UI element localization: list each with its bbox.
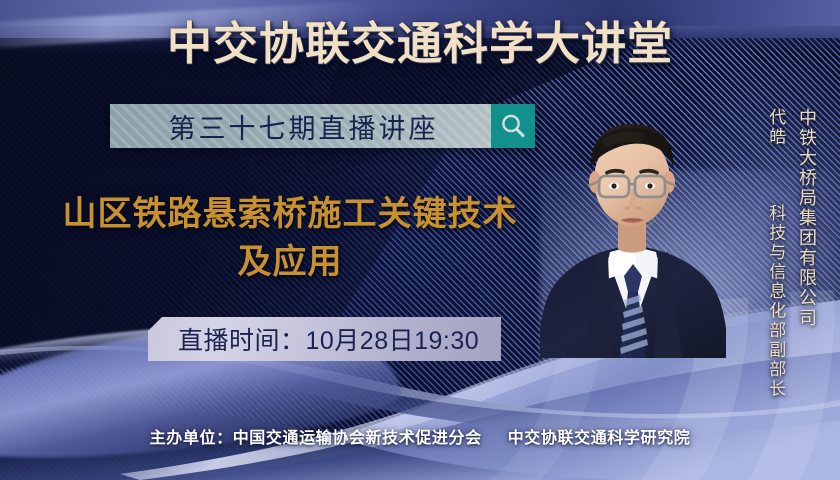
organizer-primary: 中国交通运输协会新技术促进分会 xyxy=(233,430,482,447)
broadcast-time-text: 直播时间：10月28日19:30 xyxy=(178,321,479,357)
search-icon[interactable] xyxy=(491,104,535,148)
footer-organizers: 主办单位：中国交通运输协会新技术促进分会中交协联交通科学研究院 xyxy=(0,424,840,448)
lecture-topic: 山区铁路悬索桥施工关键技术 及应用 xyxy=(30,190,550,286)
series-banner-label: 第三十七期直播讲座 xyxy=(163,107,439,146)
speaker-portrait xyxy=(540,96,726,358)
series-banner-body: 第三十七期直播讲座 xyxy=(110,104,491,148)
lecture-topic-line1: 山区铁路悬索桥施工关键技术 xyxy=(30,190,550,238)
live-stream-poster: 中交协联交通科学大讲堂 第三十七期直播讲座 山区铁路悬索桥施工关键技术 及应用 … xyxy=(0,0,840,480)
broadcast-time-badge: 直播时间：10月28日19:30 xyxy=(148,317,501,361)
organizer-secondary: 中交协联交通科学研究院 xyxy=(508,430,691,447)
speaker-name: 代皓 xyxy=(766,108,785,147)
speaker-title: 科技与信息化部副部长 xyxy=(766,204,785,399)
organizer-label: 主办单位： xyxy=(150,430,233,447)
speaker-name-and-title: 代皓 科技与信息化部副部长 xyxy=(764,108,786,399)
lecture-topic-line2: 及应用 xyxy=(30,238,550,286)
series-banner: 第三十七期直播讲座 xyxy=(110,104,535,148)
page-title: 中交协联交通科学大讲堂 xyxy=(0,16,840,72)
speaker-organization: 中铁大桥局集团有限公司 xyxy=(794,108,818,328)
speaker-credit: 代皓 科技与信息化部副部长 中铁大桥局集团有限公司 xyxy=(764,108,818,399)
